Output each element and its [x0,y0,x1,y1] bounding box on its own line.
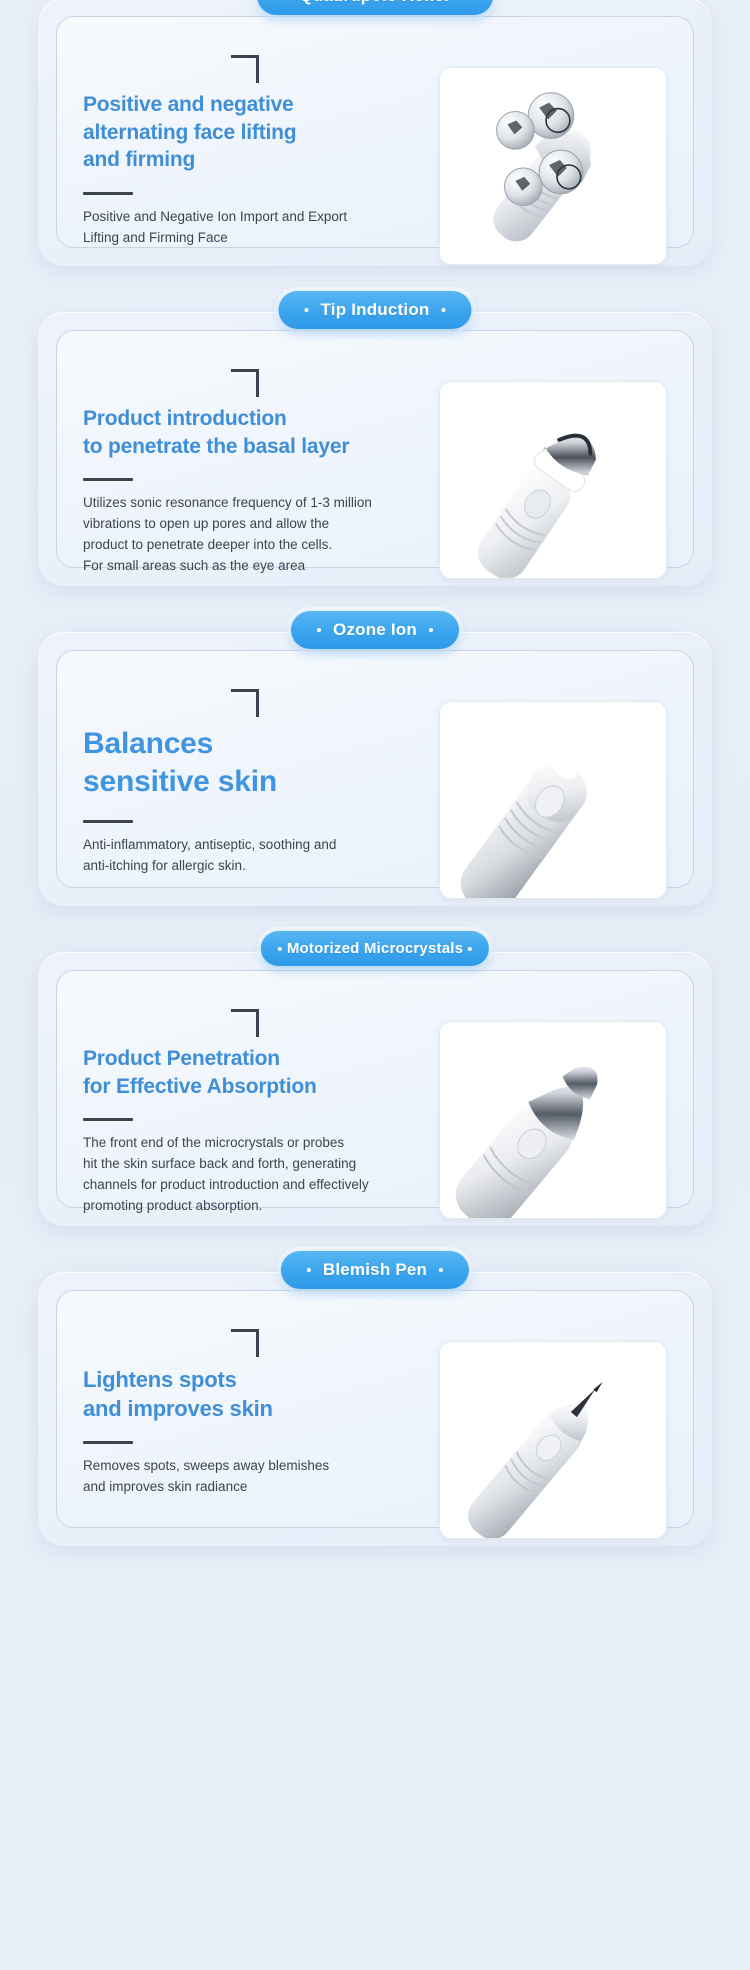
headline-line: to penetrate the basal layer [83,433,383,461]
divider-rule [83,1118,133,1121]
feature-card-ozone-ion: Ozone Ion Balances sensitive skin Anti-i… [38,632,712,906]
divider-rule [83,192,133,195]
card-headline: Lightens spots and improves skin [83,1365,383,1423]
badge-label: Ozone Ion [333,620,417,640]
divider-rule [83,1441,133,1444]
tip-induction-head-photo [439,381,667,579]
divider-rule [83,820,133,823]
corner-bracket-icon [231,689,259,717]
card-description: The front end of the microcrystals or pr… [83,1133,383,1217]
badge-blemish-pen: Blemish Pen [281,1251,469,1289]
card-text-column: Product Penetration for Effective Absorp… [83,1001,383,1217]
description-line: anti-itching for allergic skin. [83,856,383,877]
card-inner-panel: Product introduction to penetrate the ba… [56,330,694,568]
bullet-dot-icon [317,628,321,632]
card-text-column: Lightens spots and improves skin Removes… [83,1321,383,1498]
badge-ozone-ion: Ozone Ion [291,611,459,649]
badge-tip-induction: Tip Induction [279,291,472,329]
description-line: promoting product absorption. [83,1196,383,1217]
card-headline: Balances sensitive skin [83,725,383,802]
headline-line: alternating face lifting [83,119,383,147]
description-line: vibrations to open up pores and allow th… [83,514,383,535]
headline-line: and improves skin [83,1394,383,1423]
headline-line: Balances [83,725,383,763]
badge-label: Quadrupole Roller [299,0,451,6]
card-text-column: Balances sensitive skin Anti-inflammator… [83,681,383,877]
card-inner-panel: Product Penetration for Effective Absorp… [56,970,694,1208]
bullet-dot-icon [278,947,282,951]
badge-label: Blemish Pen [323,1260,427,1280]
description-line: hit the skin surface back and forth, gen… [83,1154,383,1175]
description-line: Removes spots, sweeps away blemishes [83,1456,383,1477]
card-text-column: Product introduction to penetrate the ba… [83,361,383,577]
blemish-pen-photo [439,1341,667,1539]
card-inner-panel: Positive and negative alternating face l… [56,16,694,248]
card-headline: Product Penetration for Effective Absorp… [83,1045,383,1100]
feature-card-tip-induction: Tip Induction Product introduction to pe… [38,312,712,586]
description-line: Lifting and Firming Face [83,228,383,249]
quadrupole-roller-head-photo [439,67,667,265]
corner-bracket-icon [231,55,259,83]
product-feature-page: Quadrupole Roller Positive and negative … [0,0,750,1970]
headline-line: sensitive skin [83,763,383,801]
badge-motorized-microcrystals: Motorized Microcrystals [261,931,489,966]
motorized-microcrystals-head-photo [439,1021,667,1219]
badge-label: Tip Induction [321,300,430,320]
headline-line: Positive and negative [83,91,383,119]
headline-line: Product Penetration [83,1045,383,1073]
feature-card-motorized-microcrystals: Motorized Microcrystals Product Penetrat… [38,952,712,1226]
corner-bracket-icon [231,369,259,397]
card-inner-panel: Lightens spots and improves skin Removes… [56,1290,694,1528]
description-line: Utilizes sonic resonance frequency of 1-… [83,493,383,514]
bullet-dot-icon [305,308,309,312]
card-description: Anti-inflammatory, antiseptic, soothing … [83,835,383,877]
feature-card-blemish-pen: Blemish Pen Lightens spots and improves … [38,1272,712,1546]
feature-card-quadrupole-roller: Quadrupole Roller Positive and negative … [38,0,712,266]
corner-bracket-icon [231,1329,259,1357]
description-line: Positive and Negative Ion Import and Exp… [83,207,383,228]
description-line: product to penetrate deeper into the cel… [83,535,383,556]
description-line: For small areas such as the eye area [83,556,383,577]
card-headline: Positive and negative alternating face l… [83,91,383,174]
card-text-column: Positive and negative alternating face l… [83,47,383,249]
headline-line: and firming [83,146,383,174]
ozone-ion-head-photo [439,701,667,899]
headline-line: Lightens spots [83,1365,383,1394]
bullet-dot-icon [442,308,446,312]
card-description: Utilizes sonic resonance frequency of 1-… [83,493,383,577]
bullet-dot-icon [468,947,472,951]
badge-quadrupole-roller: Quadrupole Roller [257,0,493,15]
description-line: The front end of the microcrystals or pr… [83,1133,383,1154]
description-line: channels for product introduction and ef… [83,1175,383,1196]
corner-bracket-icon [231,1009,259,1037]
bullet-dot-icon [307,1268,311,1272]
headline-line: for Effective Absorption [83,1073,383,1101]
card-inner-panel: Balances sensitive skin Anti-inflammator… [56,650,694,888]
bullet-dot-icon [439,1268,443,1272]
description-line: Anti-inflammatory, antiseptic, soothing … [83,835,383,856]
bullet-dot-icon [429,628,433,632]
card-headline: Product introduction to penetrate the ba… [83,405,383,460]
card-description: Removes spots, sweeps away blemishes and… [83,1456,383,1498]
badge-label: Motorized Microcrystals [287,940,463,957]
divider-rule [83,478,133,481]
description-line: and improves skin radiance [83,1477,383,1498]
card-description: Positive and Negative Ion Import and Exp… [83,207,383,249]
headline-line: Product introduction [83,405,383,433]
